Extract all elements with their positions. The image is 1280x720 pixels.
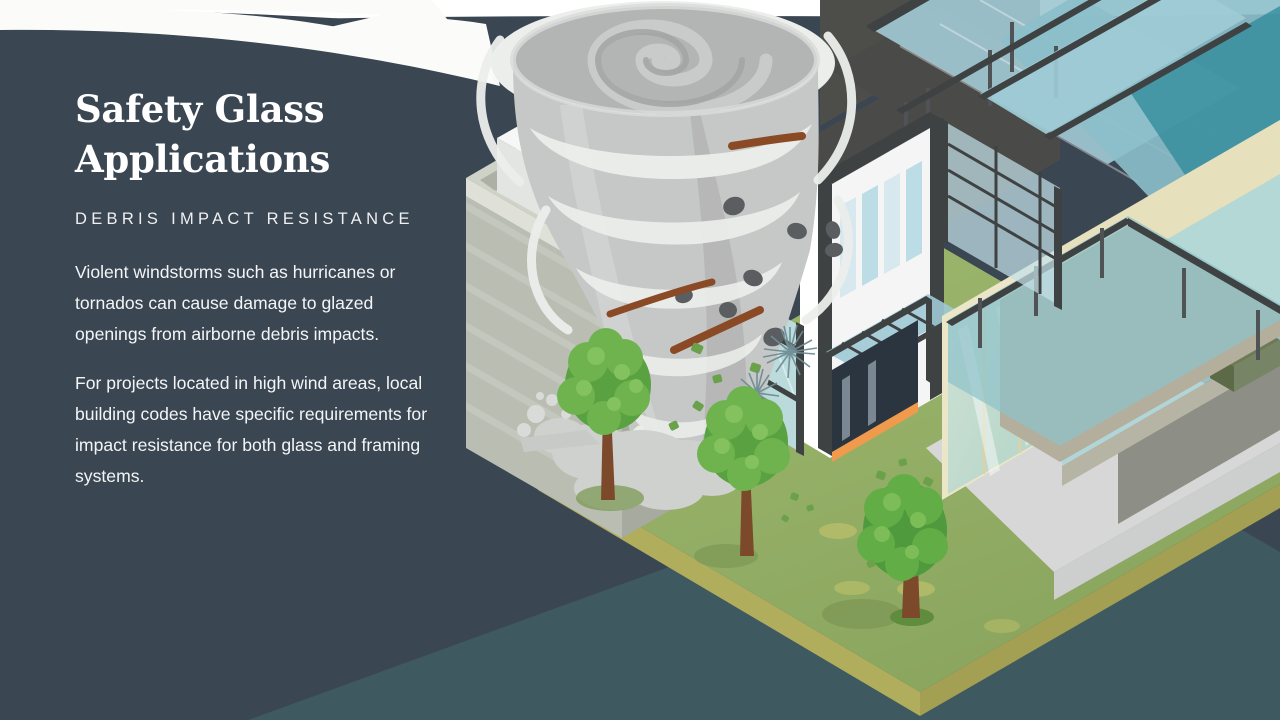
facade-frame-vertical-left [818,176,832,456]
lawn-patch [984,619,1020,633]
entrance-canopy-post [926,296,932,384]
lawn-patch [819,523,857,539]
lawn-patch [834,581,870,595]
upper-glass-frame-r [1054,186,1062,310]
slide-root: Safety Glass Applications DEBRIS IMPACT … [0,0,1280,720]
tree-shadow [822,599,902,629]
text-panel: Safety Glass Applications DEBRIS IMPACT … [75,84,445,492]
page-title: Safety Glass Applications [75,84,445,184]
upper-glass-frame-l [940,118,948,244]
office-building [752,0,1280,524]
body-paragraph-1: Violent windstorms such as hurricanes or… [75,257,435,350]
body-paragraph-2: For projects located in high wind areas,… [75,368,435,492]
page-subtitle: DEBRIS IMPACT RESISTANCE [75,210,445,229]
side-glass-frame [796,322,804,456]
